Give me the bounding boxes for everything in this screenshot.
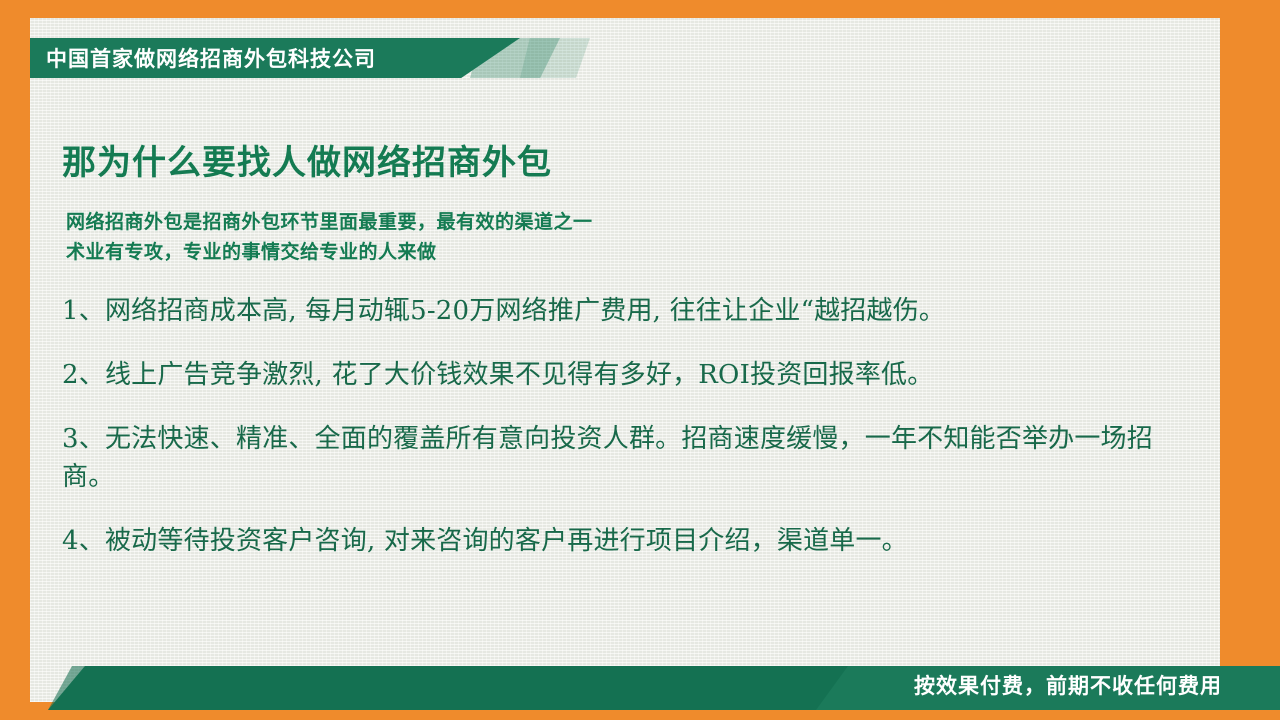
page-title: 那为什么要找人做网络招商外包	[62, 135, 552, 184]
page-subtitle-line-2: 术业有专攻，专业的事情交给专业的人来做	[66, 238, 593, 268]
footer-label: 按效果付费，前期不收任何费用	[914, 670, 1222, 700]
list-item: 3、无法快速、精准、全面的覆盖所有意向投资人群。招商速度缓慢，一年不知能否举办一…	[62, 420, 1192, 496]
slide: 中国首家做网络招商外包科技公司 那为什么要找人做网络招商外包 网络招商外包是招商…	[0, 0, 1280, 720]
header-ribbon: 中国首家做网络招商外包科技公司	[30, 38, 520, 78]
list-item: 1、网络招商成本高, 每月动辄5-20万网络推广费用, 往往让企业“越招越伤。	[62, 292, 1192, 330]
reason-list: 1、网络招商成本高, 每月动辄5-20万网络推广费用, 往往让企业“越招越伤。 …	[62, 292, 1192, 586]
page-subtitle: 网络招商外包是招商外包环节里面最重要，最有效的渠道之一 术业有专攻，专业的事情交…	[66, 208, 593, 268]
page-subtitle-line-1: 网络招商外包是招商外包环节里面最重要，最有效的渠道之一	[66, 208, 593, 238]
list-item: 2、线上广告竞争激烈, 花了大价钱效果不见得有多好，ROI投资回报率低。	[62, 356, 1192, 394]
footer: 按效果付费，前期不收任何费用	[0, 658, 1280, 720]
list-item: 4、被动等待投资客户咨询, 对来咨询的客户再进行项目介绍，渠道单一。	[62, 522, 1192, 560]
header-ribbon-label: 中国首家做网络招商外包科技公司	[46, 43, 376, 73]
footer-bar-accent	[48, 666, 848, 710]
